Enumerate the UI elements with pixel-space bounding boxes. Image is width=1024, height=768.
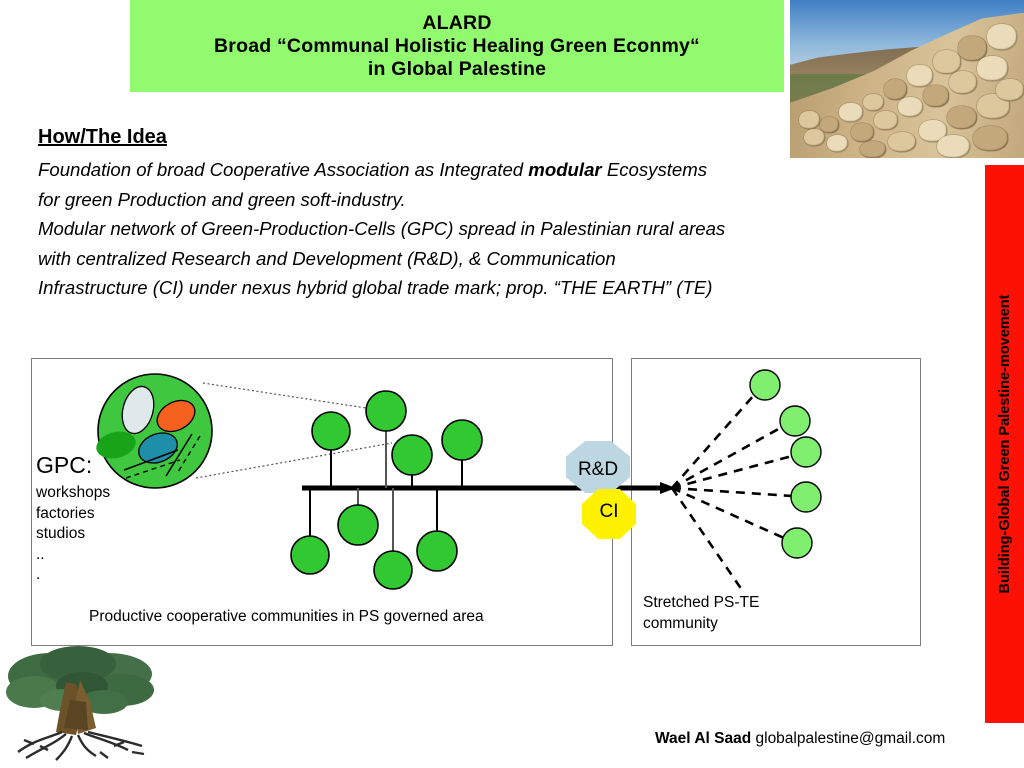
title-banner: ALARD Broad “Communal Holistic Healing G… xyxy=(130,0,784,92)
right-caption-line-2: community xyxy=(643,613,759,634)
para1-bold-modular: modular xyxy=(528,159,601,180)
para5: Infrastructure (CI) under nexus hybrid g… xyxy=(38,277,712,298)
para1-part-b: Ecosystems xyxy=(602,159,707,180)
gpc-item: studios xyxy=(36,524,110,545)
gpc-item: factories xyxy=(36,504,110,525)
gpc-item: . xyxy=(36,565,110,586)
title-line-1: ALARD xyxy=(422,12,491,35)
gpc-item: workshops xyxy=(36,483,110,504)
footer-credit: Wael Al Saad globalpalestine@gmail.com xyxy=(655,730,945,748)
gpc-items-list: workshops factories studios .. . xyxy=(36,483,110,586)
para4: with centralized Research and Developmen… xyxy=(38,248,616,269)
footer-email: globalpalestine@gmail.com xyxy=(756,730,946,747)
olive-tree-illustration xyxy=(4,640,164,764)
para3: Modular network of Green-Production-Cell… xyxy=(38,218,725,239)
gpc-item: .. xyxy=(36,545,110,566)
left-panel-caption: Productive cooperative communities in PS… xyxy=(89,608,484,626)
how-the-idea-heading: How/The Idea xyxy=(38,126,167,149)
para2: for green Production and green soft-indu… xyxy=(38,189,406,210)
right-caption-line-1: Stretched PS-TE xyxy=(643,592,759,613)
stone-wall-photo xyxy=(790,0,1024,158)
intro-paragraph: Foundation of broad Cooperative Associat… xyxy=(38,155,988,303)
cell-membrane xyxy=(98,374,212,488)
movement-side-banner-label: Building-Global Green Palestine-movement xyxy=(997,295,1013,594)
right-panel-caption: Stretched PS-TE community xyxy=(643,592,759,634)
title-line-2: Broad “Communal Holistic Healing Green E… xyxy=(214,35,700,58)
tree-roots xyxy=(18,732,144,760)
ci-node-label: CI xyxy=(600,501,619,523)
title-line-3: in Global Palestine xyxy=(368,58,546,81)
movement-side-banner: Building-Global Green Palestine-movement xyxy=(985,165,1024,723)
para1-part-a: Foundation of broad Cooperative Associat… xyxy=(38,159,528,180)
footer-author: Wael Al Saad xyxy=(655,730,751,747)
gpc-label: GPC: xyxy=(36,452,92,479)
gpc-cell-illustration xyxy=(96,372,214,490)
rd-node-label: R&D xyxy=(578,459,618,481)
